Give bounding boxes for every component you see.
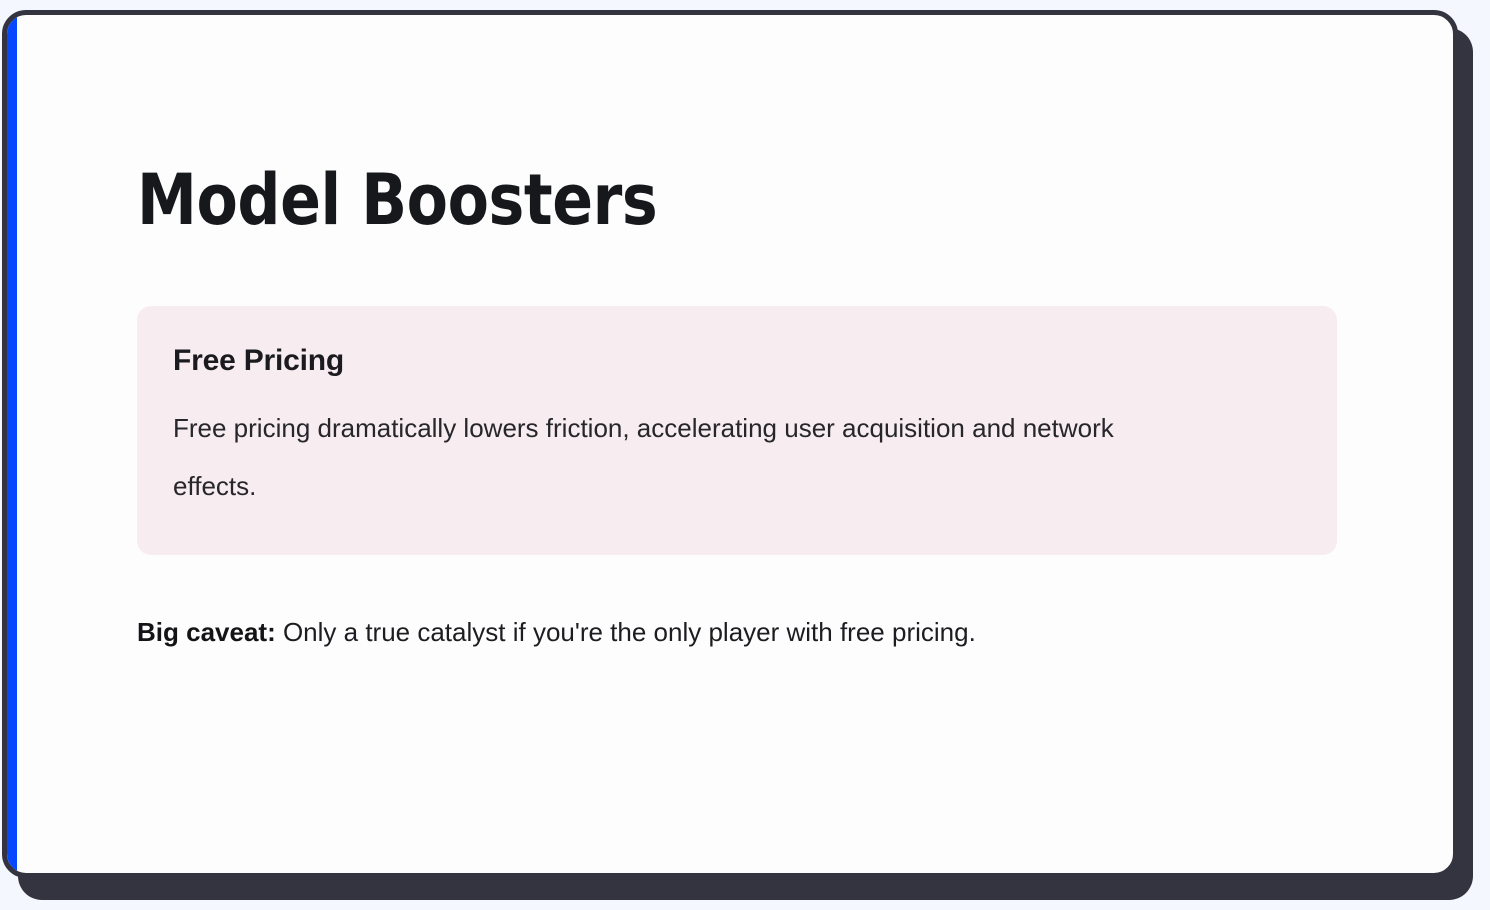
slide-stage: Model Boosters Free Pricing Free pricing… (0, 0, 1490, 910)
big-caveat-text: Only a true catalyst if you're the only … (276, 617, 976, 647)
content-card: Model Boosters Free Pricing Free pricing… (2, 10, 1458, 878)
page-title: Model Boosters (137, 15, 1167, 239)
card-body: Model Boosters Free Pricing Free pricing… (7, 15, 1453, 873)
big-caveat-paragraph: Big caveat: Only a true catalyst if you'… (137, 603, 1227, 661)
big-caveat-label: Big caveat: (137, 617, 276, 647)
callout-title: Free Pricing (173, 344, 1301, 377)
free-pricing-callout: Free Pricing Free pricing dramatically l… (137, 306, 1337, 555)
callout-body-text: Free pricing dramatically lowers frictio… (173, 399, 1153, 515)
